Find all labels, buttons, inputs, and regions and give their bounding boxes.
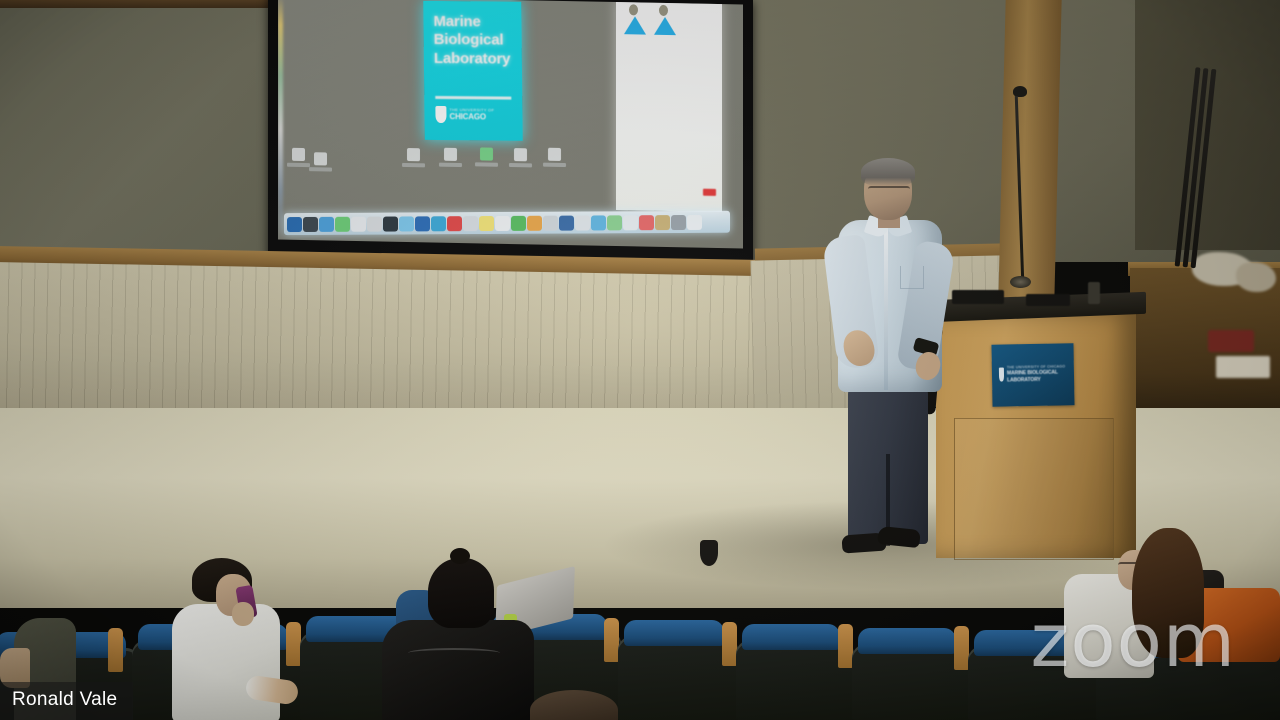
- macos-dock[interactable]: [284, 211, 730, 235]
- audience-member-white-shirt: [150, 558, 290, 720]
- seat-armrest: [954, 626, 969, 670]
- dock-icon-safari[interactable]: [319, 216, 334, 231]
- microphone-stand: [1012, 80, 1028, 290]
- mbl-slide-divider: [435, 96, 511, 100]
- dock-icon-finder[interactable]: [287, 217, 302, 232]
- dock-icon-music[interactable]: [447, 216, 462, 231]
- seat: [618, 636, 738, 720]
- dock-icon-photos[interactable]: [383, 216, 398, 231]
- mbl-slide-title: Marine Biological Laboratory: [433, 13, 520, 69]
- counter-items: [1208, 330, 1254, 352]
- dock-icon-app[interactable]: [655, 215, 670, 230]
- uchicago-shield-icon: [435, 106, 446, 123]
- uchicago-logo-line2: CHICAGO: [449, 113, 494, 122]
- dock-icon-app[interactable]: [607, 215, 622, 230]
- seat-armrest: [722, 622, 737, 666]
- dock-icon-numbers[interactable]: [511, 215, 526, 230]
- document-red-marker-icon: [703, 189, 716, 196]
- speaker-person: [822, 162, 952, 572]
- desktop-app-icon: [548, 148, 561, 161]
- dock-icon-notes[interactable]: [463, 216, 478, 231]
- seat-cushion: [624, 620, 724, 646]
- uchicago-shield-icon: [999, 368, 1004, 382]
- dock-icon-keynote[interactable]: [527, 215, 542, 230]
- hoodie-collar: [408, 648, 500, 658]
- dock-icon-launchpad[interactable]: [303, 216, 318, 231]
- document-thumbnail-icon: [622, 4, 648, 34]
- dock-icon-contacts[interactable]: [351, 216, 366, 231]
- projection-screen-surface: Marine Biological Laboratory THE UNIVERS…: [278, 0, 743, 248]
- dock-icon-app[interactable]: [575, 215, 590, 230]
- podium-equipment: [952, 290, 1004, 304]
- dock-icon-maps[interactable]: [431, 216, 446, 231]
- audience-hair-bun: [450, 548, 470, 564]
- projection-screen: Marine Biological Laboratory THE UNIVERS…: [268, 0, 753, 267]
- participant-name-badge: Ronald Vale: [0, 682, 133, 720]
- counter-paper: [1216, 356, 1270, 378]
- projected-document-window: [616, 0, 722, 212]
- dock-icon-trash[interactable]: [687, 214, 702, 229]
- seat: [852, 644, 970, 720]
- podium: THE UNIVERSITY OF CHICAGO MARINE BIOLOGI…: [930, 296, 1146, 558]
- wall-upper-left: [0, 8, 286, 256]
- screen-edge-glare: [278, 0, 283, 240]
- podium-equipment: [1026, 294, 1070, 306]
- desktop-folder-icon: [407, 148, 420, 161]
- uchicago-logo-text: THE UNIVERSITY OF CHICAGO: [449, 107, 494, 122]
- dock-icon-app[interactable]: [623, 215, 638, 230]
- audience-hair: [1132, 528, 1204, 658]
- seat-cushion: [858, 628, 956, 654]
- speaker-shirt-pocket: [900, 266, 924, 289]
- audience-hoodie-torso: [382, 620, 534, 720]
- counter-items: [1236, 262, 1276, 292]
- zoom-video-frame: Marine Biological Laboratory THE UNIVERS…: [0, 0, 1280, 720]
- podium-equipment: [1088, 282, 1100, 304]
- dock-icon-pages[interactable]: [543, 215, 558, 230]
- dock-icon-preview[interactable]: [495, 215, 510, 230]
- desktop-app-icon: [444, 148, 457, 161]
- podium-body: THE UNIVERSITY OF CHICAGO MARINE BIOLOGI…: [936, 314, 1136, 558]
- speaker-shirt-placket: [884, 224, 888, 390]
- dock-icon-app[interactable]: [559, 215, 574, 230]
- glasses-icon: [868, 186, 910, 196]
- desktop-app-icon: [514, 148, 527, 161]
- document-thumbnail-icon: [652, 5, 678, 35]
- microphone-pole: [1015, 96, 1024, 281]
- desktop-file-icon: [314, 152, 327, 165]
- mbl-slide-panel: Marine Biological Laboratory THE UNIVERS…: [423, 1, 522, 141]
- dock-icon-calendar[interactable]: [367, 216, 382, 231]
- podium-placard-text: THE UNIVERSITY OF CHICAGO MARINE BIOLOGI…: [1007, 364, 1071, 383]
- desktop-file-icon: [292, 148, 305, 161]
- audience-member-woman: [1088, 528, 1218, 720]
- seat: [736, 640, 854, 720]
- podium-placard: THE UNIVERSITY OF CHICAGO MARINE BIOLOGI…: [991, 343, 1074, 406]
- seat-armrest: [108, 628, 123, 672]
- speaker-hair: [861, 158, 915, 186]
- participant-name-label: Ronald Vale: [12, 689, 117, 710]
- desktop-icon-group: [292, 146, 592, 184]
- seat-cushion: [742, 624, 840, 650]
- audience-member-hoodie: [378, 556, 548, 720]
- dock-icon-app[interactable]: [591, 215, 606, 230]
- microphone-base: [1010, 276, 1031, 288]
- wooden-column: [998, 0, 1061, 300]
- desktop-app-icon: [480, 147, 493, 160]
- uchicago-logo: THE UNIVERSITY OF CHICAGO: [435, 106, 519, 124]
- dock-icon-app[interactable]: [639, 215, 654, 230]
- podium-placard-line2: MARINE BIOLOGICAL LABORATORY: [1007, 370, 1071, 384]
- audience-white-shirt-torso: [172, 604, 280, 720]
- dock-icon-downloads[interactable]: [671, 214, 686, 229]
- seat-armrest: [604, 618, 619, 662]
- seat-armrest: [838, 624, 853, 668]
- dock-icon-messages[interactable]: [399, 216, 414, 231]
- wall-hook: [700, 540, 718, 566]
- dock-icon-reminders[interactable]: [479, 216, 494, 231]
- dock-icon-mail[interactable]: [335, 216, 350, 231]
- dock-icon-facetime[interactable]: [415, 216, 430, 231]
- audience-hand: [232, 602, 254, 626]
- audience-hair: [428, 558, 494, 628]
